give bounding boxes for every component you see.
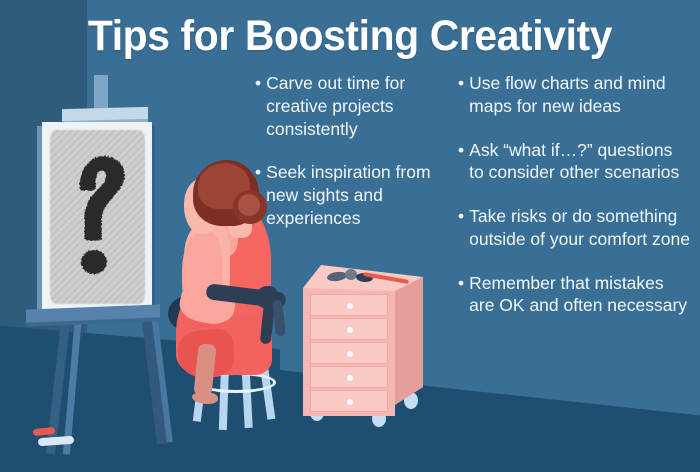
tips-column-left: • Carve out time for creative projects c… — [255, 72, 440, 251]
cabinet-drawer-4[interactable] — [310, 366, 388, 388]
bullet-marker-icon: • — [458, 205, 464, 251]
cabinet-side-panel — [395, 277, 423, 405]
bullet-marker-icon: • — [458, 139, 464, 185]
page-title: Tips for Boosting Creativity — [18, 14, 683, 59]
cabinet-drawer-5[interactable] — [310, 390, 388, 412]
bullet-marker-icon: • — [255, 72, 261, 140]
tips-column-right: • Use flow charts and mind maps for new … — [458, 72, 690, 338]
tip-item: • Use flow charts and mind maps for new … — [458, 72, 690, 118]
tip-item: • Carve out time for creative projects c… — [255, 72, 440, 140]
tip-text: Ask “what if…?” questions to consider ot… — [469, 139, 690, 185]
drawer-knob-3 — [347, 351, 353, 357]
drawer-knob-4 — [347, 375, 353, 381]
drawer-knob-1 — [347, 303, 353, 309]
drawer-knob-5 — [347, 399, 353, 405]
tip-text: Remember that mistakes are OK and often … — [469, 272, 690, 318]
bullet-marker-icon: • — [458, 272, 464, 318]
tip-item: • Take risks or do something outside of … — [458, 205, 690, 251]
bullet-marker-icon: • — [255, 161, 261, 229]
tip-text: Carve out time for creative projects con… — [266, 72, 440, 140]
tip-text: Use flow charts and mind maps for new id… — [469, 72, 690, 118]
cabinet-drawer-3[interactable] — [310, 342, 388, 364]
drawer-knob-2 — [347, 327, 353, 333]
infographic-canvas: Tips for Boosting Creativity • Carve out… — [0, 0, 700, 472]
tip-text: Take risks or do something outside of yo… — [469, 205, 690, 251]
cabinet-drawer-1[interactable] — [310, 294, 388, 316]
tip-text: Seek inspiration from new sights and exp… — [266, 161, 440, 229]
bullet-marker-icon: • — [458, 72, 464, 118]
tip-item: • Ask “what if…?” questions to consider … — [458, 139, 690, 185]
tip-item: • Remember that mistakes are OK and ofte… — [458, 272, 690, 318]
cabinet-drawer-2[interactable] — [310, 318, 388, 340]
easel-top-bar — [62, 107, 148, 121]
question-mark-icon — [50, 126, 145, 306]
tip-item: • Seek inspiration from new sights and e… — [255, 161, 440, 229]
paint-tube-2 — [345, 269, 357, 280]
